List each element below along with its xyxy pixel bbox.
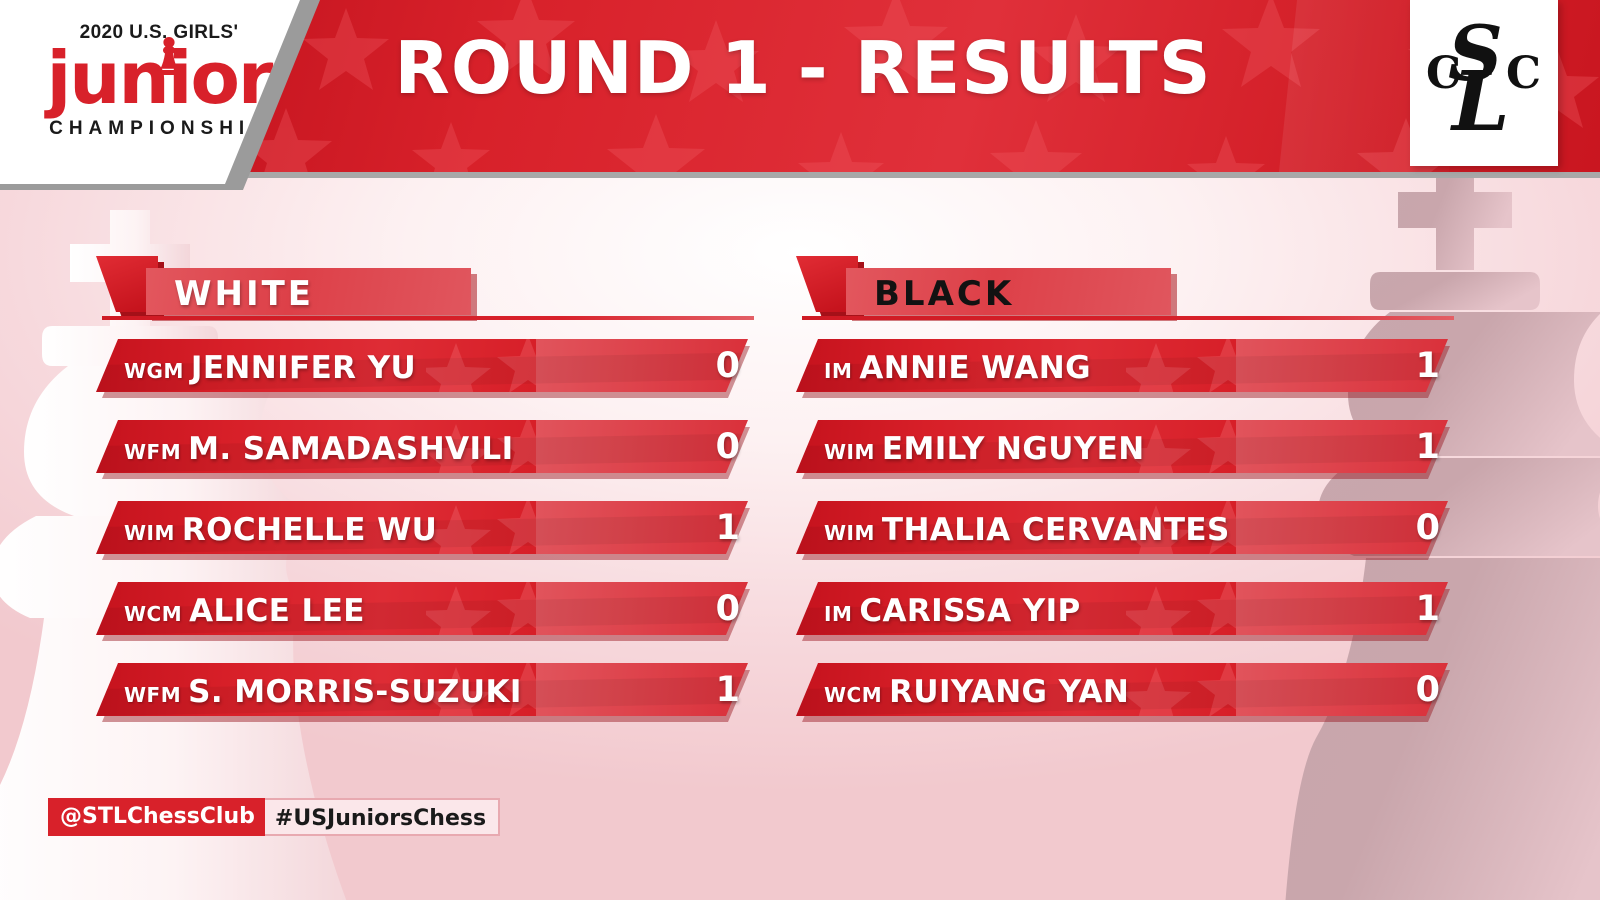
player-score: 1 <box>1416 346 1440 386</box>
csc-monogram-icon: C C S L <box>1424 18 1544 148</box>
column-underline <box>102 316 754 320</box>
player-name: ANNIE WANG <box>859 350 1091 386</box>
header-banner: ROUND 1 - RESULTS <box>196 0 1600 172</box>
player-title-rank: WIM <box>124 521 175 545</box>
player-label: IM ANNIE WANG <box>824 350 1091 386</box>
chess-pawn-icon <box>156 36 182 96</box>
table-row[interactable]: WIM ROCHELLE WU 1 <box>96 501 776 563</box>
table-row[interactable]: WIM EMILY NGUYEN 1 <box>796 420 1476 482</box>
player-label: WCM ALICE LEE <box>124 593 365 629</box>
table-row[interactable]: WFM S. MORRIS-SUZUKI 1 <box>96 663 776 725</box>
player-score: 0 <box>716 427 740 467</box>
table-row[interactable]: WCM RUIYANG YAN 0 <box>796 663 1476 725</box>
player-score: 0 <box>716 346 740 386</box>
player-name: ROCHELLE WU <box>182 512 437 548</box>
player-score: 1 <box>716 508 740 548</box>
player-title-rank: IM <box>824 359 852 383</box>
social-footer: @STLChessClub #USJuniorsChess <box>48 798 500 836</box>
player-score: 1 <box>1416 589 1440 629</box>
event-hashtag[interactable]: #USJuniorsChess <box>265 798 500 836</box>
player-name: EMILY NGUYEN <box>882 431 1145 467</box>
player-title-rank: WCM <box>824 683 882 707</box>
results-column-black: BLACK IM ANNIE WANG 1 WIM EMILY NGUYEN 1 <box>796 248 1476 725</box>
player-score: 0 <box>1416 670 1440 710</box>
page-title: ROUND 1 - RESULTS <box>196 26 1600 110</box>
player-score: 0 <box>1416 508 1440 548</box>
player-title-rank: IM <box>824 602 852 626</box>
table-row[interactable]: WGM JENNIFER YU 0 <box>96 339 776 401</box>
player-title-rank: WCM <box>124 602 182 626</box>
player-label: WIM ROCHELLE WU <box>124 512 437 548</box>
column-label-white: WHITE <box>174 274 314 314</box>
table-row[interactable]: IM ANNIE WANG 1 <box>796 339 1476 401</box>
results-column-white: WHITE WGM JENNIFER YU 0 WFM M. SAMADASHV… <box>96 248 776 725</box>
player-name: RUIYANG YAN <box>889 674 1129 710</box>
player-name: JENNIFER YU <box>191 350 416 386</box>
club-logo-plate: C C S L <box>1410 0 1558 166</box>
player-score: 0 <box>716 589 740 629</box>
column-underline <box>802 316 1454 320</box>
player-name: THALIA CERVANTES <box>882 512 1230 548</box>
player-label: WIM EMILY NGUYEN <box>824 431 1145 467</box>
player-title-rank: WFM <box>124 440 181 464</box>
twitter-handle[interactable]: @STLChessClub <box>48 798 265 836</box>
table-row[interactable]: WIM THALIA CERVANTES 0 <box>796 501 1476 563</box>
player-label: WGM JENNIFER YU <box>124 350 416 386</box>
logo-wordmark: junior <box>34 42 284 114</box>
player-label: IM CARISSA YIP <box>824 593 1081 629</box>
player-label: WIM THALIA CERVANTES <box>824 512 1230 548</box>
player-name: S. MORRIS-SUZUKI <box>188 674 522 710</box>
svg-text:C: C <box>1506 48 1541 99</box>
player-score: 1 <box>716 670 740 710</box>
svg-text:L: L <box>1450 54 1510 148</box>
player-name: M. SAMADASHVILI <box>188 431 513 467</box>
table-row[interactable]: WCM ALICE LEE 0 <box>96 582 776 644</box>
player-label: WCM RUIYANG YAN <box>824 674 1129 710</box>
header: 2020 U.S. GIRLS' junior CHAMPIONSHIP <box>0 0 1600 190</box>
player-label: WFM M. SAMADASHVILI <box>124 431 514 467</box>
player-title-rank: WIM <box>824 440 875 464</box>
column-header-black: BLACK <box>796 248 1476 320</box>
player-title-rank: WFM <box>124 683 181 707</box>
player-label: WFM S. MORRIS-SUZUKI <box>124 674 522 710</box>
player-name: CARISSA YIP <box>859 593 1080 629</box>
column-header-white: WHITE <box>96 248 776 320</box>
player-score: 1 <box>1416 427 1440 467</box>
player-title-rank: WGM <box>124 359 184 383</box>
table-row[interactable]: WFM M. SAMADASHVILI 0 <box>96 420 776 482</box>
player-title-rank: WIM <box>824 521 875 545</box>
column-label-black: BLACK <box>874 274 1014 314</box>
table-row[interactable]: IM CARISSA YIP 1 <box>796 582 1476 644</box>
player-name: ALICE LEE <box>189 593 365 629</box>
